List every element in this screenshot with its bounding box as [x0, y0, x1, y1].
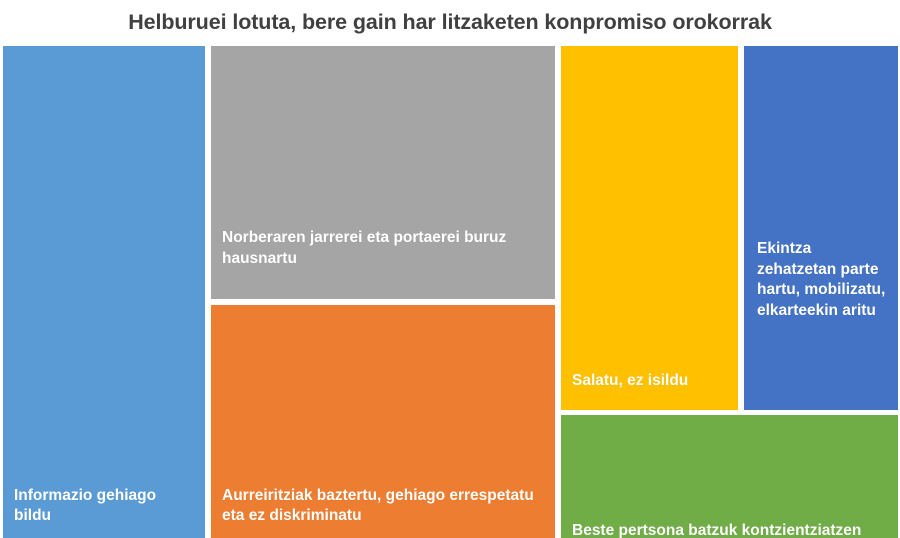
chart-title: Helburuei lotuta, bere gain har litzaket…: [0, 0, 900, 46]
treemap-tile-norberaren-jarrerei-hausnartu[interactable]: Norberaren jarrerei eta portaerei buruz …: [211, 46, 555, 299]
treemap-tile-label: Informazio gehiago bildu: [14, 486, 197, 527]
treemap-tile-label: Aurreiritziak baztertu, gehiago errespet…: [222, 486, 547, 527]
treemap-plot-area: Informazio gehiago bildu Norberaren jarr…: [0, 46, 900, 538]
treemap-tile-aurreiritziak-baztertu[interactable]: Aurreiritziak baztertu, gehiago errespet…: [211, 305, 555, 538]
treemap-chart: Helburuei lotuta, bere gain har litzaket…: [0, 0, 900, 538]
treemap-tile-label: Norberaren jarrerei eta portaerei buruz …: [222, 228, 547, 269]
treemap-tile-ekintza-zehatzetan-parte-hartu[interactable]: Ekintza zehatzetan parte hartu, mobiliza…: [744, 46, 898, 410]
treemap-tile-beste-pertsona-kontzientziatzen[interactable]: Beste pertsona batzuk kontzientziatzen s…: [561, 415, 898, 538]
treemap-tile-label: Ekintza zehatzetan parte hartu, mobiliza…: [757, 239, 890, 321]
treemap-tile-informazio-gehiago-bildu[interactable]: Informazio gehiago bildu: [3, 46, 205, 538]
treemap-tile-label: Beste pertsona batzuk kontzientziatzen s…: [572, 521, 890, 538]
treemap-tile-label: Salatu, ez isildu: [572, 371, 730, 392]
treemap-tile-salatu-ez-isildu[interactable]: Salatu, ez isildu: [561, 46, 738, 410]
